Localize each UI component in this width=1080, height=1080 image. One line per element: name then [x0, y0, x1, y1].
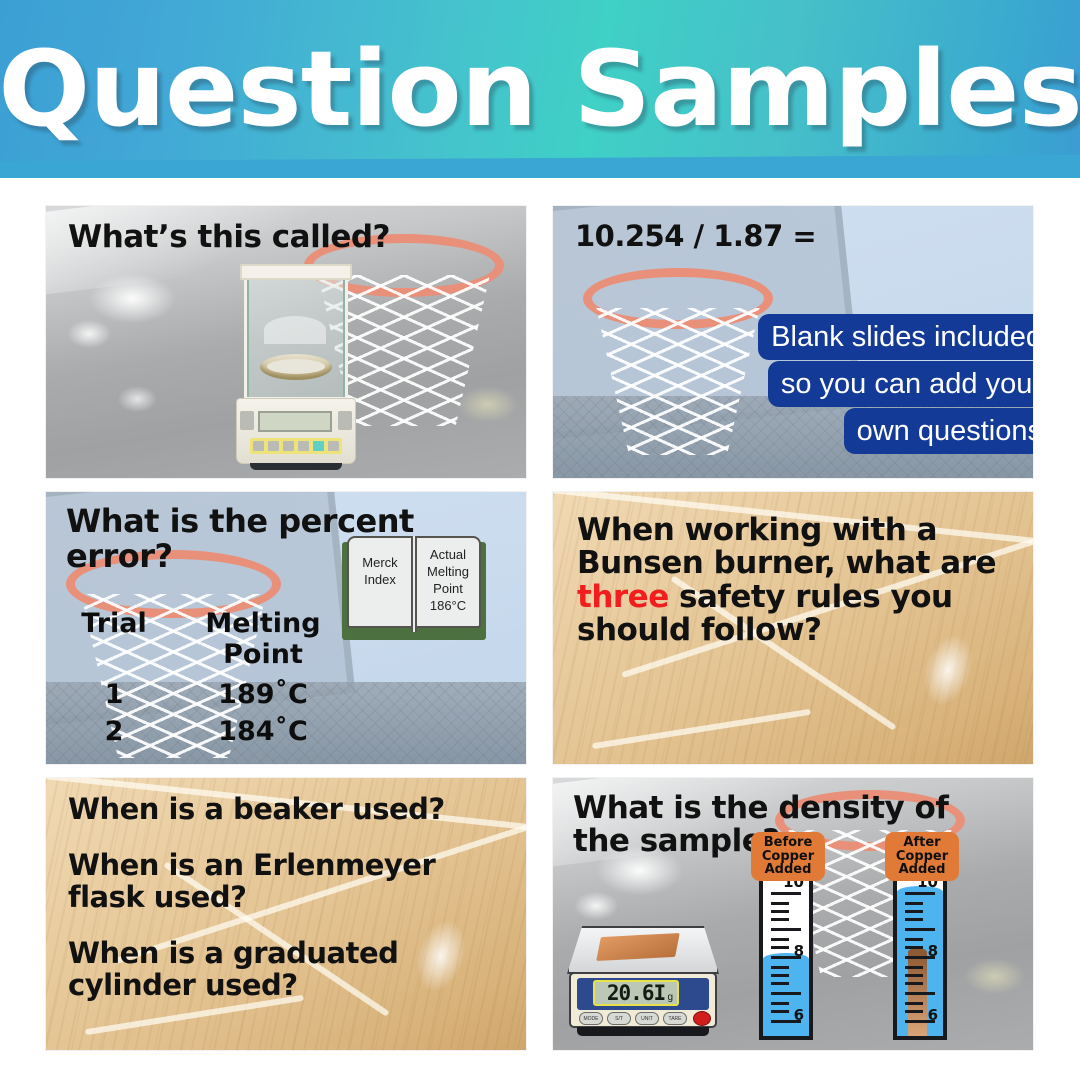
balance-left-key — [240, 411, 254, 430]
cell-melting-point: 189˚C — [168, 679, 358, 710]
scale-power-button[interactable] — [693, 1011, 711, 1026]
book-right-text: Actual Melting Point 186°C — [417, 546, 479, 615]
poster-page: Question Samples — [0, 0, 1080, 1080]
book-left-text: Merck Index — [349, 554, 411, 588]
cylinder-label-after: After Copper Added — [885, 832, 959, 881]
cylinder-liquid — [763, 959, 809, 1036]
cylinder-label-before: Before Copper Added — [751, 832, 825, 881]
graduated-cylinder-after: After Copper Added mL 10 8 — [893, 828, 947, 1040]
table-header-row: Trial Melting Point — [60, 608, 358, 670]
question-text: 10.254 / 1.87 = — [575, 221, 816, 252]
callout-line-2: so you can add your — [768, 361, 1033, 407]
court-line — [592, 709, 811, 749]
table-row: 1 189˚C — [60, 679, 358, 710]
question-beaker: When is a beaker used? — [68, 794, 498, 826]
slide-card-division[interactable]: 10.254 / 1.87 = Blank slides included so… — [553, 206, 1033, 478]
scale-lcd-display: 20.6I g — [593, 980, 679, 1006]
slide-card-bunsen[interactable]: When working with a Bunsen burner, what … — [553, 492, 1033, 764]
table-header-trial: Trial — [60, 608, 168, 639]
scale-foot — [577, 1027, 709, 1036]
blank-slides-callout: Blank slides included so you can add you… — [725, 314, 1033, 455]
table-row: 2 184˚C — [60, 716, 358, 747]
book-left-page: Merck Index — [347, 536, 413, 628]
cylinder-tube: mL 10 8 6 — [759, 856, 813, 1040]
scale-button-row[interactable]: MODE S/T UNIT TARE — [579, 1012, 707, 1026]
cell-trial: 1 — [60, 679, 168, 710]
callout-line-1: Blank slides included — [758, 314, 1033, 360]
page-title: Question Samples — [0, 0, 1080, 178]
slide-card-balance[interactable]: What’s this called? — [46, 206, 526, 478]
cylinder-tube: mL 10 8 6 — [893, 856, 947, 1040]
question-erlenmeyer: When is an Erlenmeyer flask used? — [68, 850, 498, 914]
balance-display — [258, 411, 332, 432]
scale-button-st[interactable]: S/T — [607, 1012, 631, 1025]
slide-card-density[interactable]: What is the density of the sample? 20.6I… — [553, 778, 1033, 1050]
melting-point-table: Trial Melting Point 1 189˚C 2 184˚C — [60, 608, 358, 747]
question-graduated-cylinder: When is a graduated cylinder used? — [68, 938, 498, 1002]
balance-keypad — [250, 438, 342, 454]
digital-scale-icon: 20.6I g MODE S/T UNIT TARE — [563, 926, 723, 1044]
scale-button-tare[interactable]: TARE — [663, 1012, 687, 1025]
slide-grid: What’s this called? 10.254 / 1.87 = Blan… — [46, 206, 1036, 1050]
callout-line-3: own questions — [844, 408, 1033, 454]
graduated-cylinder-before: Before Copper Added mL 10 8 — [759, 828, 813, 1040]
balance-top-cover — [240, 264, 352, 280]
balance-foot — [250, 463, 342, 470]
scale-unit: g — [667, 992, 673, 1003]
slide-card-glassware[interactable]: When is a beaker used? When is an Erlenm… — [46, 778, 526, 1050]
analytical-balance-icon — [236, 268, 356, 473]
question-list: When is a beaker used? When is an Erlenm… — [68, 794, 498, 1025]
balance-right-key — [338, 411, 352, 430]
scale-reading: 20.6I — [607, 981, 665, 1005]
scale-button-unit[interactable]: UNIT — [635, 1012, 659, 1025]
table-header-melting-point: Melting Point — [168, 608, 358, 670]
book-right-page: Actual Melting Point 186°C — [415, 536, 481, 628]
slide-card-percent-error[interactable]: What is the percent error? Trial Melting… — [46, 492, 526, 764]
header-banner: Question Samples — [0, 0, 1080, 178]
question-text: What’s this called? — [68, 221, 390, 254]
balance-dome-reflection — [264, 316, 326, 344]
question-text: When working with a Bunsen burner, what … — [577, 514, 1017, 648]
question-part-1: When working with a Bunsen burner, what … — [577, 512, 996, 581]
copper-sample — [596, 933, 680, 961]
balance-weighing-pan — [260, 354, 332, 380]
cell-trial: 2 — [60, 716, 168, 747]
open-book-icon: Merck Index Actual Melting Point 186°C — [342, 536, 486, 642]
scale-button-mode[interactable]: MODE — [579, 1012, 603, 1025]
cell-melting-point: 184˚C — [168, 716, 358, 747]
question-highlight-three: three — [577, 579, 669, 615]
